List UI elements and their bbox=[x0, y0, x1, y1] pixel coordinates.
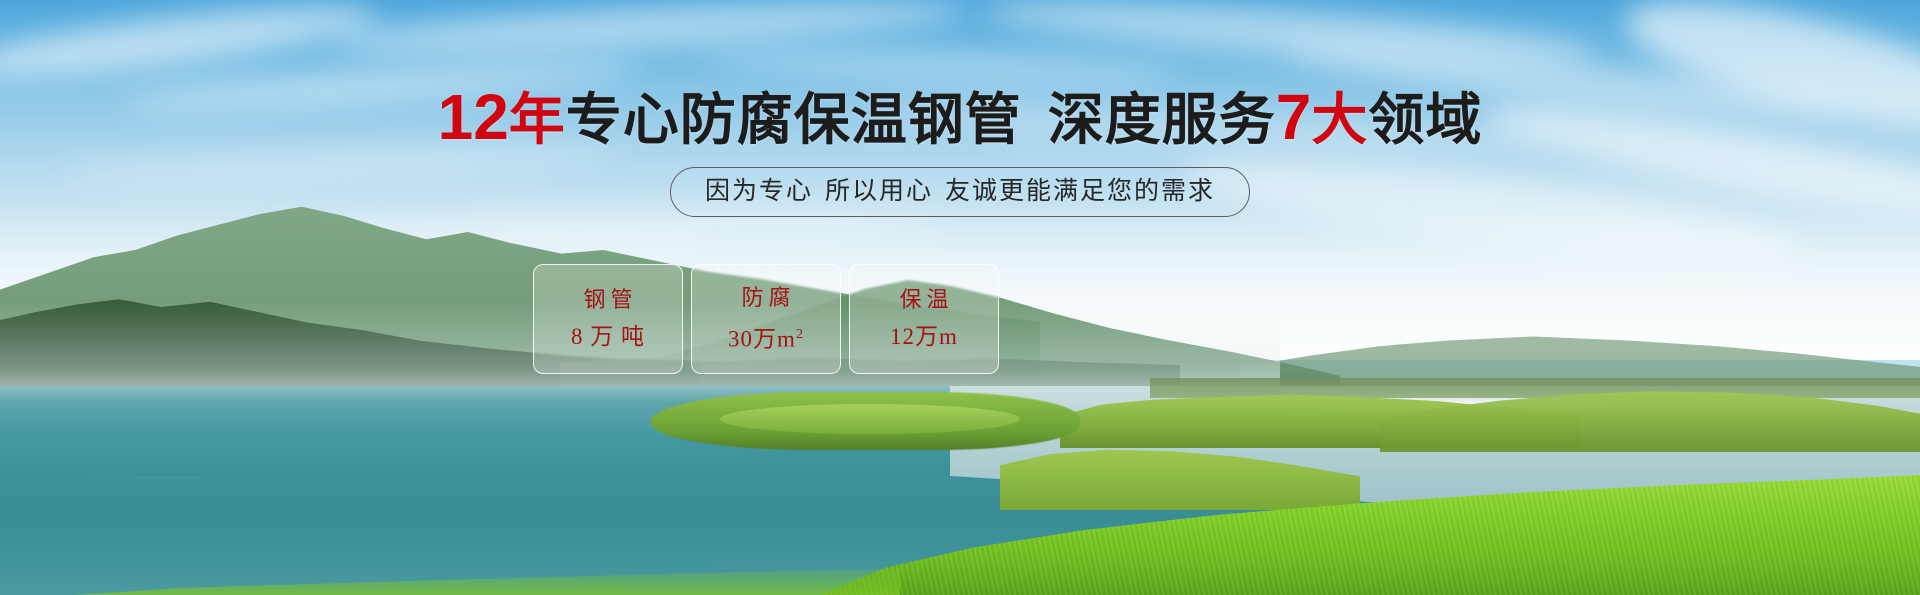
stat-card-insulation[interactable]: 保温 12万m bbox=[849, 264, 999, 374]
stat-card-value: 30万m2 bbox=[728, 322, 804, 353]
water-ripple bbox=[487, 477, 586, 479]
headline-years-number: 12 bbox=[438, 81, 509, 153]
subtitle-part-3: 友诚更能满足您的需求 bbox=[945, 177, 1215, 205]
stat-card-value: 8 万 吨 bbox=[571, 324, 645, 350]
cloud-wisp-icon bbox=[700, 44, 1181, 87]
water-ripple bbox=[690, 521, 899, 523]
water-ripple bbox=[629, 493, 792, 495]
stat-card-value-text: 30万m bbox=[728, 326, 796, 351]
far-bank bbox=[1150, 378, 1920, 398]
water-ripple bbox=[130, 569, 355, 571]
stat-card-value-text: 12万m bbox=[890, 324, 958, 349]
grass-island-top bbox=[720, 404, 1020, 434]
water-ripple bbox=[416, 481, 551, 483]
headline-fields-unit: 大 bbox=[1311, 88, 1368, 151]
headline-years-unit: 年 bbox=[509, 88, 566, 151]
water-ripple bbox=[825, 547, 988, 549]
stat-card-title: 保温 bbox=[894, 288, 953, 312]
stat-card-steel-pipe[interactable]: 钢管 8 万 吨 bbox=[533, 264, 683, 374]
water-ripple bbox=[747, 508, 890, 510]
water-ripple bbox=[8, 488, 114, 490]
stat-card-value: 12万m bbox=[890, 324, 958, 350]
water-ripple bbox=[554, 514, 660, 516]
headline-middle-text: 专心防腐保温钢管 bbox=[566, 88, 1022, 151]
stat-card-anticorrosion[interactable]: 防腐 30万m2 bbox=[691, 264, 841, 374]
stat-card-row: 钢管 8 万 吨 防腐 30万m2 保温 12万m bbox=[533, 264, 999, 374]
banner-subtitle-pill: 因为专心所以用心友诚更能满足您的需求 bbox=[670, 167, 1250, 217]
headline-fields-number: 7 bbox=[1276, 81, 1312, 153]
subtitle-part-1: 因为专心 bbox=[705, 177, 813, 205]
water-ripple bbox=[103, 444, 270, 446]
water-ripple bbox=[671, 548, 822, 550]
water-ripple bbox=[409, 425, 669, 427]
subtitle-part-2: 所以用心 bbox=[825, 177, 933, 205]
banner-subtitle-container: 因为专心所以用心友诚更能满足您的需求 bbox=[0, 167, 1920, 217]
headline-service-text: 深度服务 bbox=[1048, 88, 1276, 151]
banner-headline: 12年专心防腐保温钢管深度服务7大领域 bbox=[0, 86, 1920, 151]
stat-card-title: 防腐 bbox=[736, 286, 795, 310]
water-ripple bbox=[277, 396, 526, 398]
stat-card-value-superscript: 2 bbox=[796, 327, 804, 342]
headline-fields-suffix: 领域 bbox=[1368, 88, 1482, 151]
stat-card-title: 钢管 bbox=[578, 288, 637, 312]
water-ripple bbox=[103, 530, 362, 532]
stat-card-value-text: 8 万 吨 bbox=[571, 324, 645, 349]
water-ripple bbox=[542, 508, 655, 510]
hero-banner: 12年专心防腐保温钢管深度服务7大领域 因为专心所以用心友诚更能满足您的需求 钢… bbox=[0, 0, 1920, 595]
water-ripple bbox=[39, 477, 200, 479]
water-ripple bbox=[294, 513, 545, 515]
